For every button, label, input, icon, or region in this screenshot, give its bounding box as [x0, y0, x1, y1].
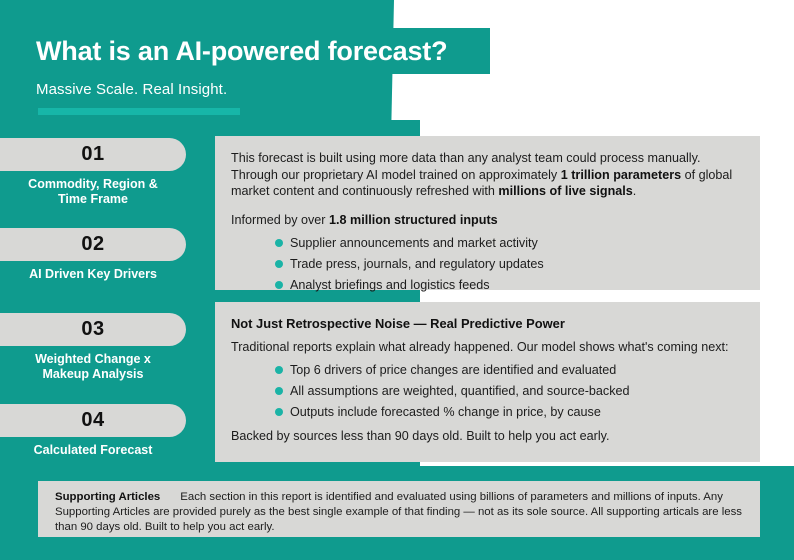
- step-number-01: 01: [81, 143, 104, 166]
- supporting-articles-note: Supporting ArticlesEach section in this …: [38, 481, 760, 537]
- list-item-text: Supplier announcements and market activi…: [290, 236, 538, 250]
- card-lead-line: Informed by over 1.8 million structured …: [231, 212, 742, 229]
- card-heading: Not Just Retrospective Noise — Real Pred…: [231, 316, 742, 333]
- card-data-scale: This forecast is built using more data t…: [215, 136, 760, 290]
- list-item-text: Outputs include forecasted % change in p…: [290, 405, 601, 419]
- step-pill-02[interactable]: 02: [0, 228, 186, 261]
- bullet-dot-icon: [275, 239, 283, 247]
- step-label-03: Weighted Change x Makeup Analysis: [0, 346, 186, 384]
- footer-label: Supporting Articles: [55, 491, 160, 503]
- list-item: Top 6 drivers of price changes are ident…: [275, 362, 742, 378]
- step-label-02: AI Driven Key Drivers: [0, 261, 186, 284]
- step-number-02: 02: [81, 233, 104, 256]
- intro-bold-2: millions of live signals: [498, 184, 632, 198]
- list-item-text: All assumptions are weighted, quantified…: [290, 384, 630, 398]
- step-spacer-2: [0, 289, 200, 313]
- bullet-dot-icon: [275, 387, 283, 395]
- card-tail-line: Backed by sources less than 90 days old.…: [231, 428, 742, 445]
- list-item: Trade press, journals, and regulatory up…: [275, 256, 742, 272]
- steps-list: 01 Commodity, Region & Time Frame 02 AI …: [0, 138, 200, 465]
- list-item-text: Analyst briefings and logistics feeds: [290, 278, 490, 292]
- list-item: Supplier announcements and market activi…: [275, 235, 742, 251]
- step-label-04: Calculated Forecast: [0, 437, 186, 460]
- card-predictive-power: Not Just Retrospective Noise — Real Pred…: [215, 302, 760, 462]
- step-item-03[interactable]: 03 Weighted Change x Makeup Analysis: [0, 313, 200, 384]
- bullet-dot-icon: [275, 366, 283, 374]
- header-accent-rule: [38, 108, 240, 115]
- step-label-01: Commodity, Region & Time Frame: [0, 171, 186, 209]
- step-number-04: 04: [81, 409, 104, 432]
- list-item-text: Trade press, journals, and regulatory up…: [290, 257, 544, 271]
- bullet-dot-icon: [275, 281, 283, 289]
- step-pill-01[interactable]: 01: [0, 138, 186, 171]
- step-item-01[interactable]: 01 Commodity, Region & Time Frame: [0, 138, 200, 209]
- bullet-dot-icon: [275, 408, 283, 416]
- lead-plain-text: Informed by over: [231, 213, 329, 227]
- inputs-bullet-list: Supplier announcements and market activi…: [231, 235, 742, 293]
- step-pill-03[interactable]: 03: [0, 313, 186, 346]
- footer-paragraph: Supporting ArticlesEach section in this …: [55, 490, 746, 536]
- step-pill-04[interactable]: 04: [0, 404, 186, 437]
- predictive-bullet-list: Top 6 drivers of price changes are ident…: [231, 362, 742, 420]
- step-item-04[interactable]: 04 Calculated Forecast: [0, 404, 200, 460]
- intro-bold-1: 1 trillion parameters: [561, 168, 681, 182]
- lead-bold-text: 1.8 million structured inputs: [329, 213, 498, 227]
- list-item: Outputs include forecasted % change in p…: [275, 404, 742, 420]
- page-title: What is an AI-powered forecast?: [36, 28, 447, 74]
- card-body-paragraph: Traditional reports explain what already…: [231, 339, 742, 356]
- step-spacer-1: [0, 214, 200, 228]
- step-item-02[interactable]: 02 AI Driven Key Drivers: [0, 228, 200, 284]
- infographic-poster: What is an AI-powered forecast? Massive …: [0, 0, 794, 560]
- list-item: Analyst briefings and logistics feeds: [275, 277, 742, 293]
- page-subtitle: Massive Scale. Real Insight.: [36, 81, 227, 98]
- card-intro-paragraph: This forecast is built using more data t…: [231, 150, 742, 200]
- bullet-dot-icon: [275, 260, 283, 268]
- intro-text-3: .: [633, 184, 637, 198]
- list-item-text: Top 6 drivers of price changes are ident…: [290, 363, 616, 377]
- step-spacer-3: [0, 389, 200, 404]
- step-number-03: 03: [81, 318, 104, 341]
- list-item: All assumptions are weighted, quantified…: [275, 383, 742, 399]
